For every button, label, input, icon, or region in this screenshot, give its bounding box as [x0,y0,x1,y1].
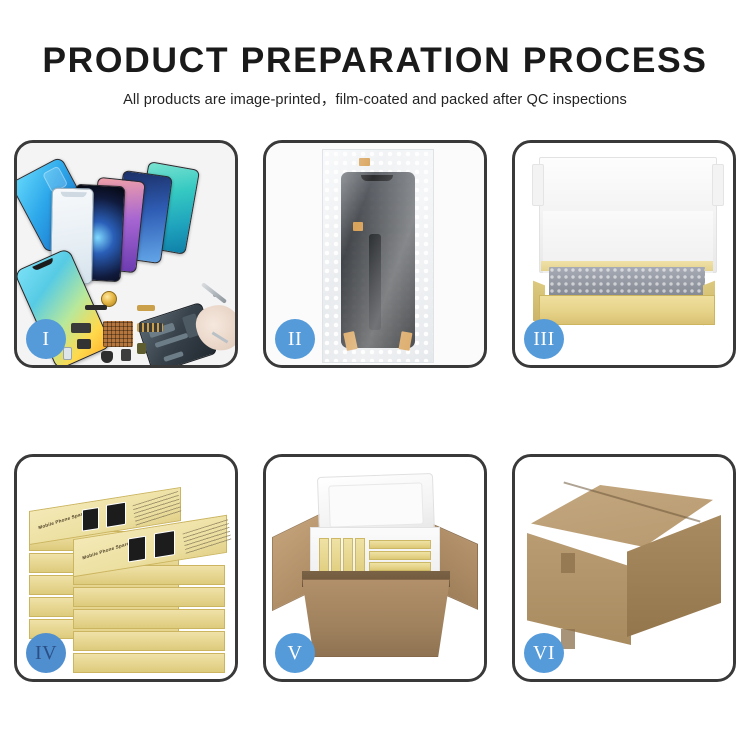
step-badge-2: II [275,319,315,359]
sim-tray-part [63,347,72,360]
step-card-4[interactable]: Mobile Phone Spare Parts Mobile Pho [14,454,238,682]
bubble-wrap-bag [322,149,434,363]
process-step-grid: I II [14,140,736,682]
carton-tape-tab [561,629,575,649]
step-badge-6: VI [524,633,564,673]
product-preparation-infographic: PRODUCT PREPARATION PROCESS All products… [0,0,750,750]
step-badge-3: III [524,319,564,359]
bracket-part [71,323,91,333]
step-badge-5: V [275,633,315,673]
module-part [77,339,91,349]
chip-board-part [103,321,133,347]
tape-piece [399,331,413,351]
step-badge-4: IV [26,633,66,673]
flex-cable-part [85,305,107,310]
carton-body [302,579,450,657]
carton-tape-tab [561,553,575,573]
screen-flex-cable [369,234,381,330]
page-title: PRODUCT PREPARATION PROCESS [0,42,750,79]
header: PRODUCT PREPARATION PROCESS All products… [0,0,750,109]
sensor-part [137,343,146,354]
mailer-box-front [539,295,715,325]
gold-connector-part [137,305,155,311]
page-subtitle: All products are image-printed，film-coat… [0,88,750,109]
step-card-5[interactable]: V [263,454,487,682]
step-card-6[interactable]: VI [512,454,736,682]
ribbon-cable-part [137,323,163,332]
camera-part [121,349,131,361]
step-card-1[interactable]: I [14,140,238,368]
carton-front-face [527,533,631,645]
step-card-2[interactable]: II [263,140,487,368]
step-badge-1: I [26,319,66,359]
tape-piece [353,222,363,231]
speaker-part [101,351,113,363]
screwdriver-icon [201,282,227,304]
tape-piece [359,158,370,166]
step-card-3[interactable]: III [512,140,736,368]
